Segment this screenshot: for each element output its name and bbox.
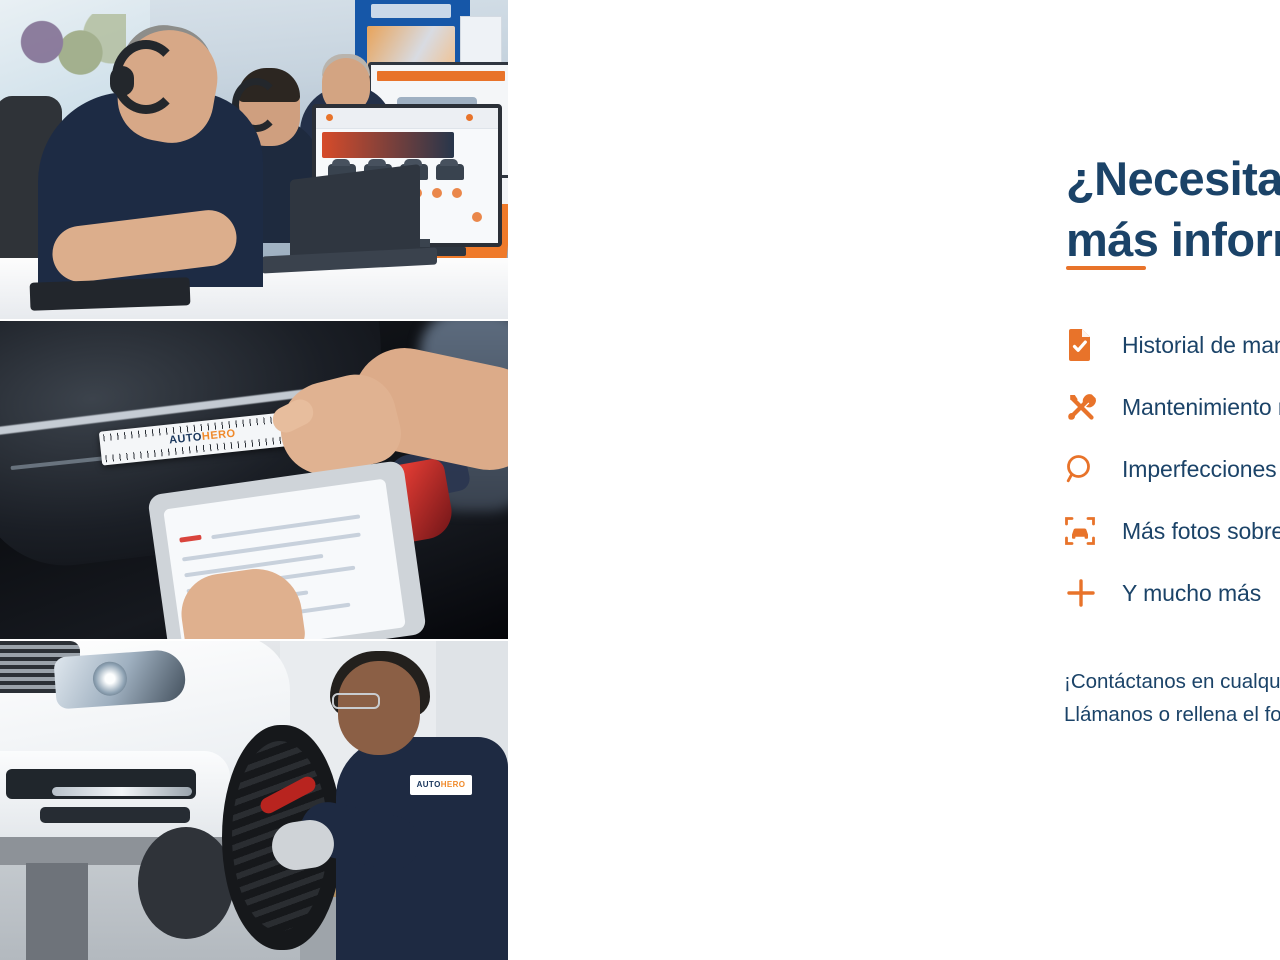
document-check-icon bbox=[1064, 328, 1122, 362]
page-title: ¿Necesitas más información? bbox=[1066, 149, 1280, 269]
headline-line-2: más información? bbox=[1066, 213, 1280, 266]
workshop-wheel-photo: AUTOHERO bbox=[0, 641, 508, 960]
feature-label: Más fotos sobre el coche bbox=[1122, 518, 1280, 545]
ruler-logo-hero: HERO bbox=[201, 427, 236, 442]
photo-column: AUTOHERO bbox=[0, 0, 508, 960]
car-frame-icon bbox=[1064, 515, 1122, 547]
contact-line-1: ¡Contáctanos en cualquier momento para m… bbox=[1064, 670, 1280, 693]
ruler-logo-auto: AUTO bbox=[169, 431, 203, 446]
chrome-trim bbox=[52, 787, 192, 796]
headline-line-1: ¿Necesitas bbox=[1066, 152, 1280, 205]
wrench-screwdriver-icon bbox=[1064, 390, 1122, 424]
feature-label: Mantenimiento realizado bbox=[1122, 394, 1280, 421]
promo-page: AUTOHERO bbox=[0, 0, 1280, 960]
feature-item-maintenance-done: Mantenimiento realizado bbox=[1064, 376, 1280, 438]
feature-label: Imperfecciones bbox=[1122, 456, 1277, 483]
car-inspection-ruler-photo: AUTOHERO bbox=[0, 321, 508, 640]
agent-one-headset-cup bbox=[110, 66, 134, 96]
feature-item-maintenance-history: Historial de mantenimientos bbox=[1064, 314, 1280, 376]
desk-tablet bbox=[30, 277, 191, 311]
contact-line-2: Llámanos o rellena el formulario de cont… bbox=[1064, 703, 1280, 726]
feature-item-imperfections: Imperfecciones bbox=[1064, 438, 1280, 500]
feature-label: Historial de mantenimientos bbox=[1122, 332, 1280, 359]
feature-item-more-photos: Más fotos sobre el coche bbox=[1064, 500, 1280, 562]
plus-icon bbox=[1064, 576, 1122, 610]
car-headlight bbox=[53, 649, 186, 710]
feature-label: Y mucho más bbox=[1122, 580, 1261, 607]
car-lift-leg bbox=[26, 863, 88, 960]
polo-autohero-logo: AUTOHERO bbox=[410, 775, 472, 795]
outdoor-greenery bbox=[6, 14, 126, 84]
feature-list: Historial de mantenimientos Mantenimient… bbox=[1064, 314, 1280, 624]
magnifier-icon bbox=[1064, 453, 1122, 485]
content-panel: ¿Necesitas más información? Historial de… bbox=[508, 0, 1280, 960]
lower-vent bbox=[40, 807, 190, 823]
title-divider bbox=[1066, 266, 1146, 270]
feature-item-much-more: Y mucho más bbox=[1064, 562, 1280, 624]
wheel-hub bbox=[138, 827, 234, 939]
mechanic-glasses bbox=[332, 693, 380, 709]
contact-text: ¡Contáctanos en cualquier momento para m… bbox=[1064, 665, 1280, 731]
call-center-agents-photo bbox=[0, 0, 508, 319]
